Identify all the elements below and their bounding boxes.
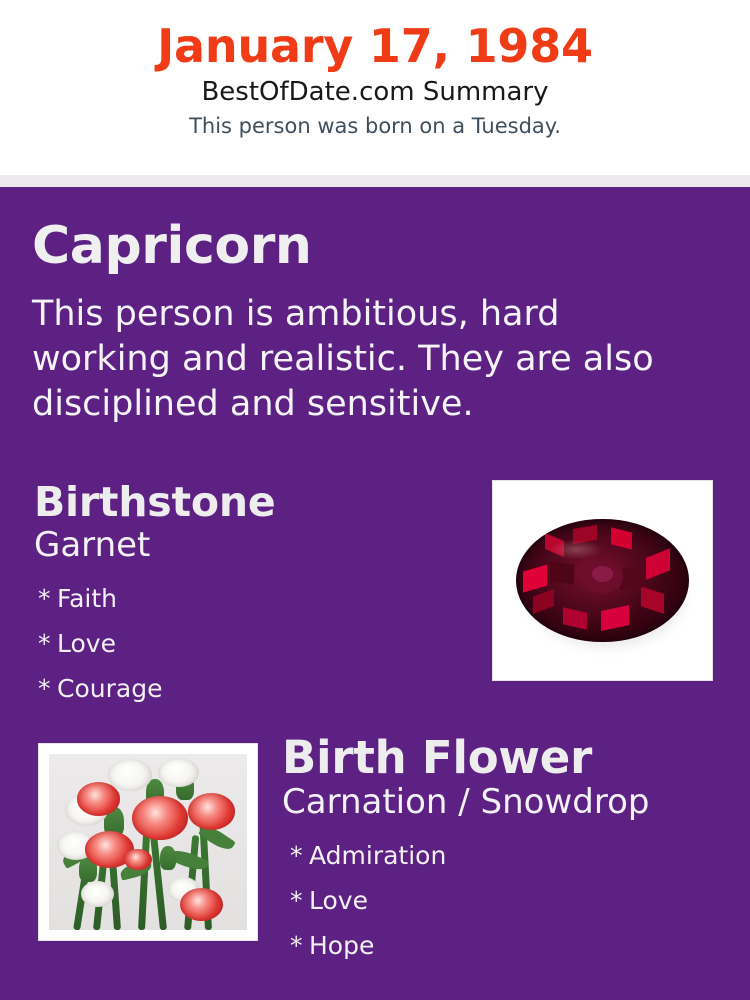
birth-flower-trait-label: Love [309,886,368,915]
birthstone-section: Birthstone Garnet *Faith *Love *Courage [34,482,464,711]
birthstone-heading: Birthstone [34,482,464,524]
page-title-date: January 17, 1984 [0,0,750,71]
header-divider [0,175,750,187]
gem-facet [550,561,574,584]
zodiac-sign-title: Capricorn [32,220,312,272]
gem-facet [620,567,643,591]
gem-facet [601,605,629,631]
birthstone-trait-label: Courage [57,674,162,703]
bullet-asterisk-icon: * [290,833,309,878]
bullet-asterisk-icon: * [38,576,57,621]
list-item: *Admiration [290,833,732,878]
birth-flower-trait-label: Hope [309,931,374,960]
gem-facet [523,565,547,593]
birthstone-name: Garnet [34,524,464,564]
birthstone-trait-label: Love [57,629,116,658]
birth-flower-heading: Birth Flower [282,735,732,781]
bullet-asterisk-icon: * [290,878,309,923]
white-carnation-bloom [108,759,152,791]
red-carnation-bloom [77,782,121,815]
red-carnation-bloom [188,793,236,830]
list-item: *Faith [38,576,464,621]
page-header: January 17, 1984 BestOfDate.com Summary … [0,0,750,175]
bullet-asterisk-icon: * [290,923,309,968]
flower-bud [160,846,176,871]
white-carnation-bloom [81,881,115,907]
gem-facet [611,527,632,550]
red-carnation-bloom [180,888,224,921]
list-item: *Love [38,621,464,666]
birth-flower-image-frame [38,743,258,941]
gem-sparkle [550,540,602,560]
gem-oval-shape [516,519,689,643]
list-item: *Love [290,878,732,923]
birthstone-trait-label: Faith [57,584,117,613]
site-name-subtitle: BestOfDate.com Summary [0,71,750,108]
gem-facet [646,548,670,580]
red-carnation-bloom [132,796,187,840]
bullet-asterisk-icon: * [38,666,57,711]
birth-flower-trait-label: Admiration [309,841,446,870]
gem-facet [641,587,664,614]
birth-weekday-note: This person was born on a Tuesday. [0,108,750,138]
birthstone-image-frame [492,480,713,681]
red-carnation-bloom [124,849,152,870]
summary-panel: Capricorn This person is ambitious, hard… [0,187,750,1000]
garnet-gemstone-image [504,492,701,669]
gem-center-highlight [592,566,613,582]
birth-flower-name: Carnation / Snowdrop [282,781,732,821]
flower-stem [138,828,150,930]
bullet-asterisk-icon: * [38,621,57,666]
gem-facet [563,607,587,630]
gem-facet [533,589,554,614]
list-item: *Hope [290,923,732,968]
carnation-bouquet-image [49,754,247,930]
zodiac-description: This person is ambitious, hard working a… [32,292,662,426]
birthstone-trait-list: *Faith *Love *Courage [34,564,464,711]
list-item: *Courage [38,666,464,711]
summary-page: January 17, 1984 BestOfDate.com Summary … [0,0,750,1000]
birth-flower-section: Birth Flower Carnation / Snowdrop *Admir… [282,735,732,968]
birth-flower-trait-list: *Admiration *Love *Hope [282,821,732,968]
